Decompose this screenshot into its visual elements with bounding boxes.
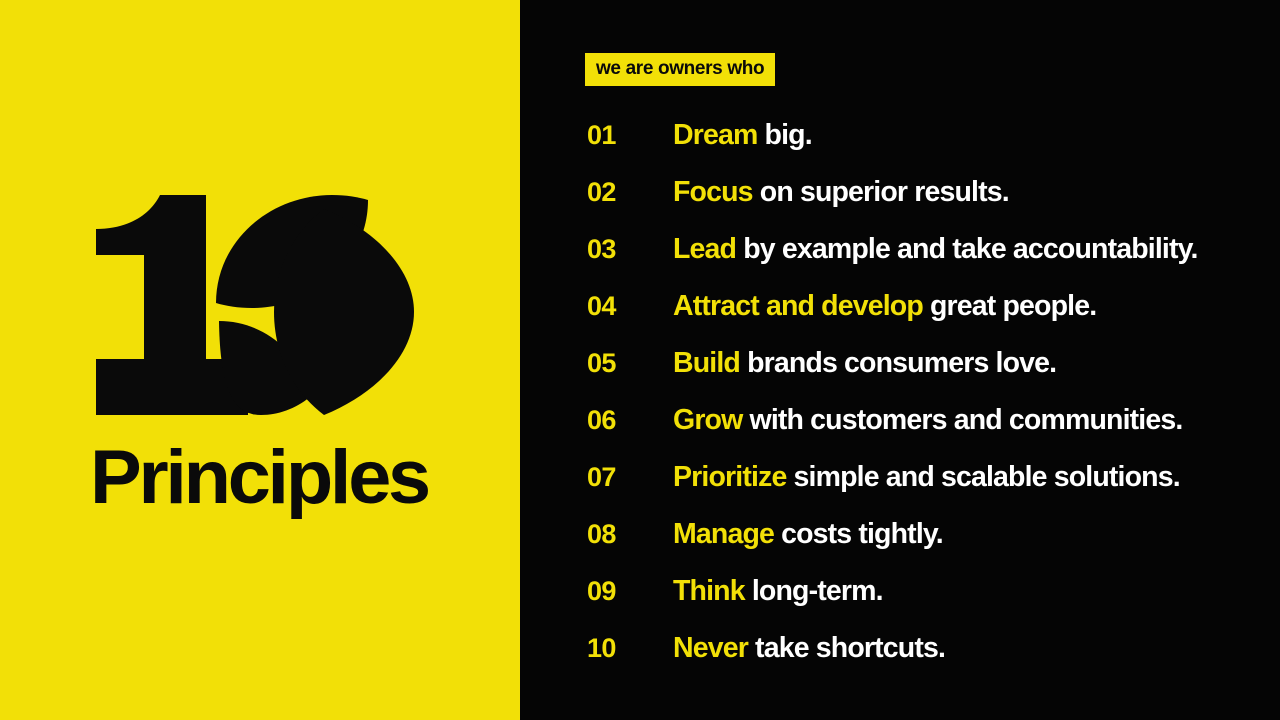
principle-lead: Focus (673, 176, 753, 208)
ten-leaf-logo-icon (88, 193, 436, 417)
principle-row: 03 Lead by example and take accountabili… (520, 233, 1280, 290)
principle-number: 10 (520, 633, 606, 664)
principle-rest: brands consumers love. (740, 347, 1056, 379)
principle-lead: Think (673, 575, 745, 607)
principle-text: Build brands consumers love. (606, 347, 1280, 380)
brand-wordmark: Principles (90, 443, 447, 513)
principle-text: Think long-term. (606, 575, 1280, 608)
principle-number: 03 (520, 234, 606, 265)
principle-row: 09 Think long-term. (520, 575, 1280, 632)
principle-rest: take shortcuts. (748, 632, 945, 664)
principle-text: Attract and develop great people. (606, 290, 1280, 323)
principle-text: Manage costs tightly. (606, 518, 1280, 551)
eyebrow-badge: we are owners who (585, 53, 775, 86)
principle-number: 09 (520, 576, 606, 607)
principle-rest: costs tightly. (774, 518, 943, 550)
principle-row: 07 Prioritize simple and scalable soluti… (520, 461, 1280, 518)
principle-lead: Dream (673, 119, 757, 151)
principle-number: 02 (520, 177, 606, 208)
principle-lead: Lead (673, 233, 736, 265)
principle-text: Prioritize simple and scalable solutions… (606, 461, 1280, 494)
principle-text: Dream big. (606, 119, 1280, 152)
principle-rest: with customers and communities. (742, 404, 1182, 436)
principle-rest: great people. (923, 290, 1096, 322)
principle-rest: by example and take accountability. (736, 233, 1197, 265)
principle-text: Lead by example and take accountability. (606, 233, 1280, 266)
content-panel: we are owners who 01 Dream big. 02 Focus… (520, 0, 1280, 720)
principle-text: Focus on superior results. (606, 176, 1280, 209)
principle-row: 08 Manage costs tightly. (520, 518, 1280, 575)
principle-lead: Build (673, 347, 740, 379)
principle-rest: on superior results. (753, 176, 1009, 208)
principle-number: 07 (520, 462, 606, 493)
principle-lead: Manage (673, 518, 774, 550)
principle-row: 05 Build brands consumers love. (520, 347, 1280, 404)
principle-number: 06 (520, 405, 606, 436)
principle-row: 04 Attract and develop great people. (520, 290, 1280, 347)
brand-lockup: Principles (88, 193, 440, 513)
principle-row: 01 Dream big. (520, 119, 1280, 176)
principle-text: Never take shortcuts. (606, 632, 1280, 665)
brand-panel: Principles (0, 0, 520, 720)
principle-rest: long-term. (745, 575, 883, 607)
principles-slide: Principles we are owners who 01 Dream bi… (0, 0, 1280, 720)
principle-row: 02 Focus on superior results. (520, 176, 1280, 233)
principle-row: 06 Grow with customers and communities. (520, 404, 1280, 461)
principle-lead: Attract and develop (673, 290, 923, 322)
principle-rest: simple and scalable solutions. (786, 461, 1179, 493)
principle-number: 05 (520, 348, 606, 379)
principle-number: 04 (520, 291, 606, 322)
principle-row: 10 Never take shortcuts. (520, 632, 1280, 689)
principle-lead: Grow (673, 404, 742, 436)
eyebrow-label: we are owners who (596, 58, 764, 80)
principle-number: 01 (520, 120, 606, 151)
principles-list: 01 Dream big. 02 Focus on superior resul… (520, 119, 1280, 689)
principle-lead: Never (673, 632, 748, 664)
principle-text: Grow with customers and communities. (606, 404, 1280, 437)
principle-lead: Prioritize (673, 461, 786, 493)
principle-rest: big. (757, 119, 811, 151)
principle-number: 08 (520, 519, 606, 550)
